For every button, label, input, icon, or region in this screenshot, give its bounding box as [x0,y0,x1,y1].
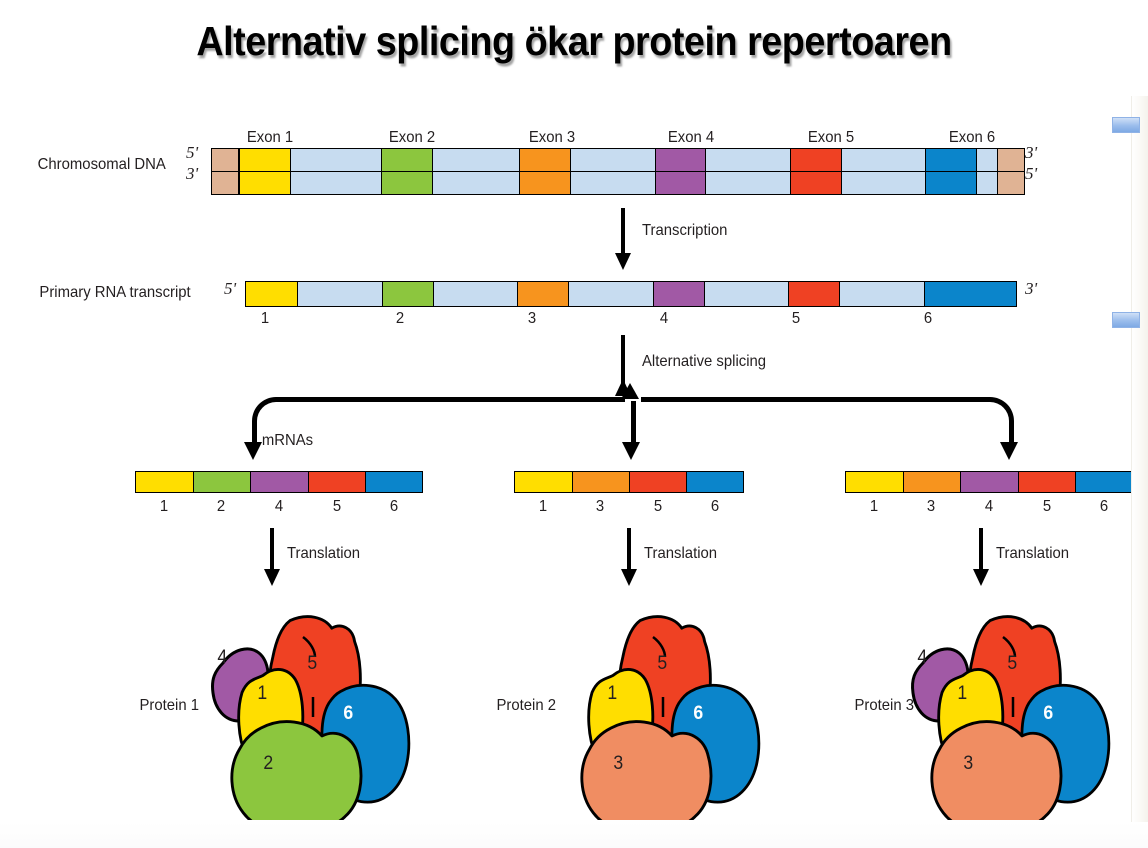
dna-exon-5 [790,149,842,171]
exon-label-1: Exon 1 [214,129,326,147]
rna-exon-number-1: 1 [219,310,312,328]
protein-subunit-number-6: 6 [693,703,703,725]
primary-transcript-label: Primary RNA transcript [39,284,190,302]
dna-strand-top [211,148,1025,172]
exon-label-3: Exon 3 [496,129,608,147]
mrna-arrowhead-2 [622,442,640,460]
dna-exon-3 [519,149,571,171]
resize-handle-top[interactable] [1112,117,1140,133]
rna-exon-6 [924,282,1016,306]
exon-label-2: Exon 2 [356,129,468,147]
rna-exon-number-4: 4 [618,310,711,328]
mrna-1-exon-5 [308,472,365,492]
panel-edge [1131,96,1148,836]
splicing-bracket [252,397,1014,447]
protein-complex-2: 5136 [545,605,775,820]
dna-utr-left [212,149,239,171]
protein-subunit-number-5: 5 [657,653,667,675]
rna-exon-number-2: 2 [354,310,447,328]
protein-subunit-number-3: 3 [963,753,973,775]
mrna-bar-1 [135,471,423,493]
dna-exon-2 [381,149,433,171]
dna-five-prime-right: 5' [1025,164,1037,184]
protein-blobs [195,605,425,820]
mrna-bar-2 [514,471,744,493]
translation-label-2: Translation [644,545,717,563]
rna-exon-number-3: 3 [486,310,579,328]
transcription-arrow [612,208,634,270]
dna-exon-2 [381,172,433,194]
rna-five-prime: 5' [224,279,236,299]
protein-subunit-number-2: 2 [263,753,273,775]
alternative-splicing-label: Alternative splicing [642,353,766,371]
primary-rna-bar [245,281,1017,307]
protein-subunit-3 [932,722,1061,820]
protein-subunit-number-1: 1 [257,683,267,705]
rna-exon-5 [788,282,840,306]
mrna-arrowhead-1 [244,442,262,460]
rna-three-prime: 3' [1025,279,1037,299]
translation-arrow-1 [261,528,283,586]
dna-utr-left [212,172,239,194]
dna-utr-right [997,172,1024,194]
protein-blobs [545,605,775,820]
mrna-1-exon-2 [193,472,250,492]
translation-label-1: Translation [287,545,360,563]
resize-handle-bottom[interactable] [1112,312,1140,328]
transcription-label: Transcription [642,222,727,240]
mrna-arrowhead-3 [1000,442,1018,460]
dna-exon-6 [925,172,977,194]
rna-exon-number-6: 6 [882,310,975,328]
mrna-3-exon-4 [960,472,1017,492]
dna-exon-6 [925,149,977,171]
dna-exon-5 [790,172,842,194]
protein-subunit-number-4: 4 [917,647,927,669]
mrna-1-exon-4 [250,472,307,492]
mrnas-label: mRNAs [262,432,313,450]
mrna-2-exon-1 [515,472,572,492]
protein-subunit-number-1: 1 [607,683,617,705]
mrna-1-exon-number-6: 6 [348,498,441,516]
dna-exon-4 [655,149,707,171]
protein-complex-3: 45136 [895,605,1125,820]
mrna-3-exon-1 [846,472,903,492]
mrna-3-exon-5 [1018,472,1075,492]
exon-label-4: Exon 4 [635,129,747,147]
rna-exon-number-5: 5 [750,310,843,328]
protein-subunit-number-4: 4 [217,647,227,669]
mrna-2-exon-6 [686,472,743,492]
mrna-2-exon-number-6: 6 [669,498,762,516]
protein-subunit-number-5: 5 [307,653,317,675]
dna-exon-1 [239,149,291,171]
protein-blobs [895,605,1125,820]
protein-complex-1: 45126 [195,605,425,820]
translation-arrow-2 [618,528,640,586]
protein-subunit-2 [232,722,361,820]
protein-subunit-number-6: 6 [343,703,353,725]
mrna-1-exon-1 [136,472,193,492]
protein-subunit-number-3: 3 [613,753,623,775]
dna-strand-bottom [211,171,1025,195]
mrna-1-exon-6 [365,472,422,492]
chromosomal-dna-label: Chromosomal DNA [38,156,166,174]
exon-label-5: Exon 5 [775,129,887,147]
protein-subunit-number-1: 1 [957,683,967,705]
dna-exon-1 [239,172,291,194]
protein-subunit-number-5: 5 [1007,653,1017,675]
protein-subunit-number-6: 6 [1043,703,1053,725]
translation-arrow-3 [970,528,992,586]
exon-label-6: Exon 6 [916,129,1028,147]
protein-label-1: Protein 1 [139,697,199,715]
mrna-3-exon-3 [903,472,960,492]
dna-utr-right [997,149,1024,171]
mrna-3-exon-6 [1075,472,1132,492]
dna-exon-3 [519,172,571,194]
dna-three-prime-left: 3' [186,164,198,184]
rna-exon-3 [517,282,569,306]
dna-exon-4 [655,172,707,194]
mrna-bar-3 [845,471,1133,493]
dna-five-prime-left: 5' [186,143,198,163]
mrna-2-exon-3 [572,472,629,492]
protein-subunit-3 [582,722,711,820]
slide-canvas: Alternativ splicing ökar protein reperto… [0,0,1148,848]
rna-exon-1 [246,282,298,306]
rna-exon-2 [382,282,434,306]
slide-bottom-edge [0,822,1148,848]
translation-label-3: Translation [996,545,1069,563]
page-title: Alternativ splicing ökar protein reperto… [46,18,1102,65]
rna-exon-4 [653,282,705,306]
mrna-2-exon-5 [629,472,686,492]
